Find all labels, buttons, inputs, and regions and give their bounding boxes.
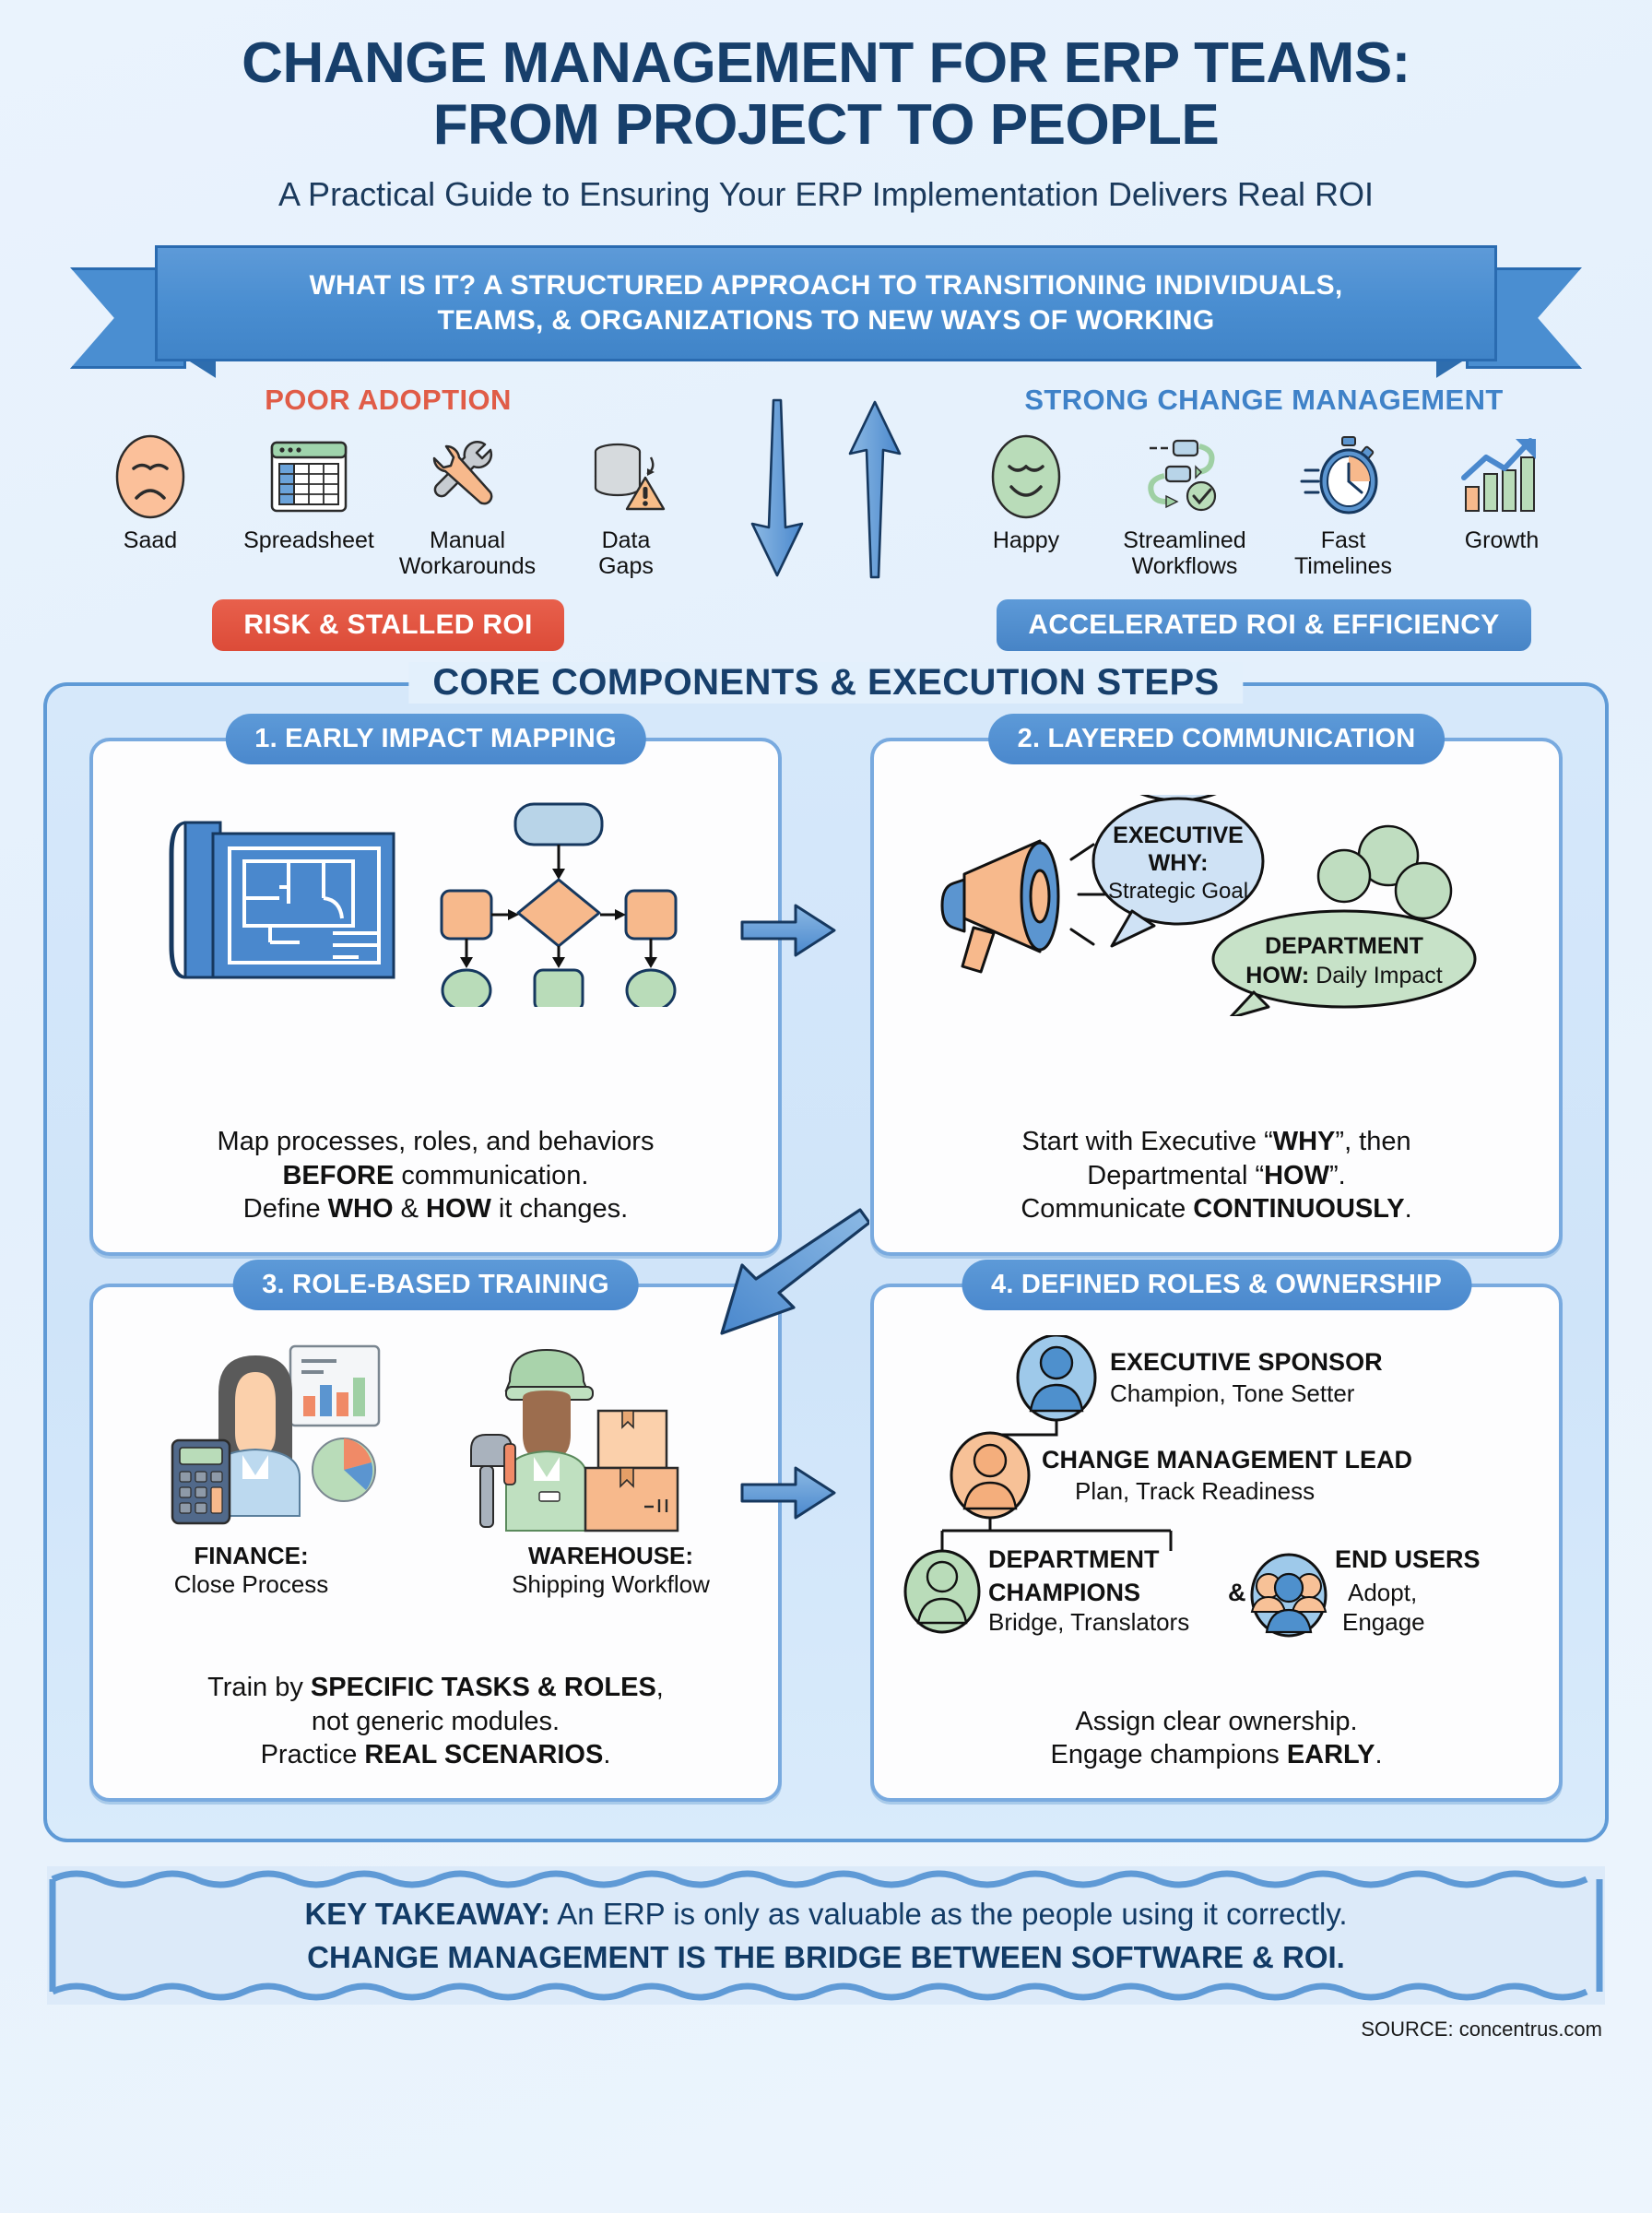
- down-arrow-icon: [744, 396, 810, 581]
- persona-2-sub: Shipping Workflow: [512, 1570, 710, 1598]
- role-1-sub: Champion, Tone Setter: [1110, 1379, 1355, 1407]
- role-4-sub-a: Adopt,: [1348, 1579, 1417, 1606]
- takeaway-label: KEY TAKEAWAY:: [304, 1897, 550, 1931]
- accelerated-roi-pill: ACCELERATED ROI & EFFICIENCY: [997, 599, 1530, 651]
- comparison-arrows: [711, 384, 941, 581]
- card-role-based-training[interactable]: 3. ROLE-BASED TRAINING: [89, 1284, 782, 1802]
- tools-icon: [398, 432, 537, 522]
- diagonal-down-left-arrow-icon-2-to-3: [713, 1202, 869, 1341]
- card-2-badge: 2. LAYERED COMMUNICATION: [988, 714, 1445, 764]
- icon-label-growth: Growth: [1433, 527, 1571, 553]
- icon-label-workflow: StreamlinedWorkflows: [1115, 527, 1254, 579]
- icon-cell-workflow: StreamlinedWorkflows: [1115, 432, 1254, 579]
- growth-chart-icon: [1433, 432, 1571, 522]
- card-layered-communication[interactable]: 2. LAYERED COMMUNICATION: [870, 738, 1563, 1256]
- strong-change-management-column: STRONG CHANGE MANAGEMENT Happy: [941, 384, 1587, 651]
- card-3-text: Train by SPECIFIC TASKS & ROLES,not gene…: [207, 1671, 664, 1781]
- org-chart-roles-illustration: EXECUTIVE SPONSOR Champion, Tone Setter …: [903, 1335, 1530, 1639]
- icon-cell-sad: Saad: [81, 432, 219, 579]
- icon-cell-stopwatch: FastTimelines: [1274, 432, 1412, 579]
- role-3-title-b: CHAMPIONS: [988, 1579, 1140, 1606]
- takeaway-line-1: KEY TAKEAWAY: An ERP is only as valuable…: [304, 1895, 1347, 1935]
- role-4-title: END USERS: [1335, 1545, 1481, 1573]
- card-defined-roles-ownership[interactable]: 4. DEFINED ROLES & OWNERSHIP EXECUTIVE: [870, 1284, 1563, 1802]
- workflow-check-icon: [1115, 432, 1254, 522]
- icon-label-data-gaps: DataGaps: [557, 527, 695, 579]
- page-title: CHANGE MANAGEMENT FOR ERP TEAMS: FROM PR…: [107, 33, 1545, 157]
- icon-cell-tools: ManualWorkarounds: [398, 432, 537, 579]
- ribbon-line-1: WHAT IS IT? A STRUCTURED APPROACH TO TRA…: [309, 268, 1342, 303]
- comparison-section: POOR ADOPTION Saad: [0, 384, 1652, 651]
- strong-change-management-heading: STRONG CHANGE MANAGEMENT: [941, 384, 1587, 417]
- role-1-title: EXECUTIVE SPONSOR: [1110, 1348, 1383, 1376]
- role-2-title: CHANGE MANAGEMENT LEAD: [1042, 1446, 1412, 1473]
- blueprint-flowchart-illustration: [159, 795, 713, 1007]
- takeaway-text-block: KEY TAKEAWAY: An ERP is only as valuable…: [47, 1866, 1605, 2005]
- bubble-exec-line-3: Strategic Goal: [1107, 879, 1247, 904]
- source-attribution: SOURCE: concentrus.com: [44, 2018, 1608, 2041]
- megaphone-speech-bubbles-illustration: EXECUTIVE WHY: Strategic Goal DEPARTMENT…: [931, 795, 1503, 1016]
- card-early-impact-mapping[interactable]: 1. EARLY IMPACT MAPPING: [89, 738, 782, 1256]
- persona-1-title: FINANCE:: [194, 1542, 308, 1569]
- card-4-text: Assign clear ownership.Engage champions …: [1050, 1705, 1382, 1781]
- page-subtitle: A Practical Guide to Ensuring Your ERP I…: [0, 175, 1652, 214]
- card-4-badge: 4. DEFINED ROLES & OWNERSHIP: [962, 1260, 1471, 1310]
- bubble-exec-line-1: EXECUTIVE: [1113, 822, 1244, 848]
- icon-label-spreadsheet: Spreadsheet: [240, 527, 378, 553]
- bubble-dept-line-2: HOW: Daily Impact: [1245, 963, 1443, 988]
- poor-adoption-heading: POOR ADOPTION: [65, 384, 711, 417]
- takeaway-line-2: CHANGE MANAGEMENT IS THE BRIDGE BETWEEN …: [307, 1940, 1345, 1975]
- definition-ribbon: WHAT IS IT? A STRUCTURED APPROACH TO TRA…: [70, 238, 1582, 363]
- right-arrow-icon-3-to-4: [738, 1461, 840, 1525]
- bubble-exec-line-2: WHY:: [1148, 850, 1208, 876]
- role-4-sub-b: Engage: [1342, 1608, 1425, 1636]
- sad-face-icon: [81, 432, 219, 522]
- page-title-line-2: FROM PROJECT TO PEOPLE: [107, 95, 1545, 157]
- ampersand-label: &: [1228, 1579, 1246, 1606]
- spreadsheet-icon: [240, 432, 378, 522]
- card-1-badge: 1. EARLY IMPACT MAPPING: [225, 714, 645, 764]
- poor-adoption-column: POOR ADOPTION Saad: [65, 384, 711, 651]
- persona-1-sub: Close Process: [174, 1570, 329, 1598]
- role-3-title-a: DEPARTMENT: [988, 1545, 1160, 1573]
- strong-change-icon-row: Happy: [941, 432, 1587, 579]
- page-header: CHANGE MANAGEMENT FOR ERP TEAMS: FROM PR…: [0, 0, 1652, 214]
- right-arrow-icon-1-to-2: [738, 898, 840, 963]
- icon-label-tools: ManualWorkarounds: [398, 527, 537, 579]
- card-3-badge: 3. ROLE-BASED TRAINING: [232, 1260, 639, 1310]
- icon-cell-happy: Happy: [957, 432, 1095, 579]
- page-title-line-1: CHANGE MANAGEMENT FOR ERP TEAMS:: [107, 33, 1545, 95]
- card-1-text: Map processes, roles, and behaviorsBEFOR…: [218, 1125, 655, 1236]
- role-3-sub: Bridge, Translators: [988, 1608, 1189, 1636]
- finance-warehouse-personas-illustration: [150, 1341, 722, 1534]
- card-2-text: Start with Executive “WHY”, thenDepartme…: [1021, 1125, 1411, 1236]
- ribbon-body: WHAT IS IT? A STRUCTURED APPROACH TO TRA…: [155, 245, 1497, 361]
- card-3-persona-labels: FINANCE: Close Process WAREHOUSE: Shippi…: [146, 1542, 726, 1599]
- up-arrow-icon: [842, 396, 908, 581]
- poor-adoption-icon-row: Saad: [65, 432, 711, 579]
- core-components-section: CORE COMPONENTS & EXECUTION STEPS 1. EAR…: [43, 682, 1609, 1842]
- role-2-sub: Plan, Track Readiness: [1075, 1477, 1315, 1505]
- risk-stalled-roi-pill: RISK & STALLED ROI: [212, 599, 563, 651]
- database-warning-icon: [557, 432, 695, 522]
- persona-2-title: WAREHOUSE:: [528, 1542, 693, 1569]
- icon-cell-growth: Growth: [1433, 432, 1571, 579]
- core-components-title: CORE COMPONENTS & EXECUTION STEPS: [408, 662, 1243, 704]
- icon-label-sad: Saad: [81, 527, 219, 553]
- icon-cell-spreadsheet: Spreadsheet: [240, 432, 378, 579]
- happy-face-icon: [957, 432, 1095, 522]
- stopwatch-icon: [1274, 432, 1412, 522]
- icon-cell-data-gaps: DataGaps: [557, 432, 695, 579]
- icon-label-happy: Happy: [957, 527, 1095, 553]
- ribbon-line-2: TEAMS, & ORGANIZATIONS TO NEW WAYS OF WO…: [309, 303, 1342, 338]
- key-takeaway-banner: KEY TAKEAWAY: An ERP is only as valuable…: [47, 1866, 1605, 2005]
- icon-label-stopwatch: FastTimelines: [1274, 527, 1412, 579]
- ribbon-text: WHAT IS IT? A STRUCTURED APPROACH TO TRA…: [287, 268, 1364, 339]
- takeaway-line-1-rest: An ERP is only as valuable as the people…: [550, 1897, 1348, 1931]
- bubble-dept-line-1: DEPARTMENT: [1265, 933, 1423, 959]
